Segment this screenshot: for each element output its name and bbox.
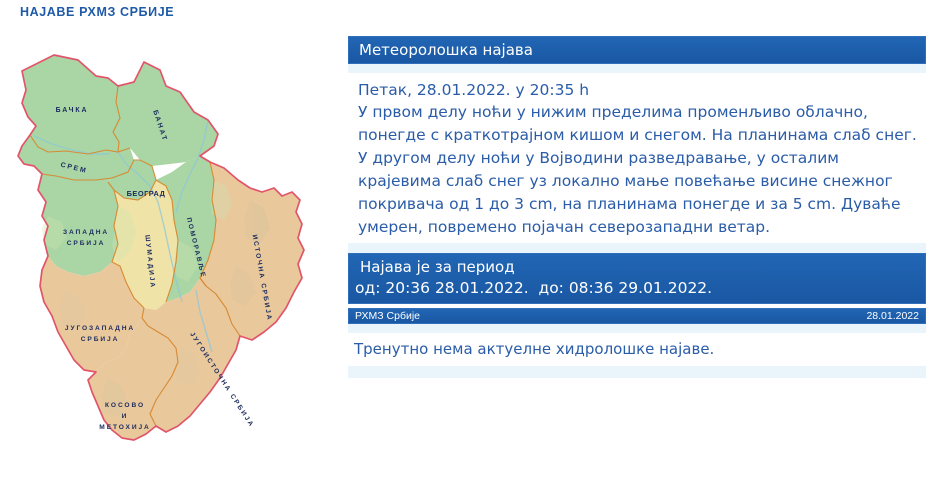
map-label-zapadna-srbija-line2: СРБИЈА [67,240,105,247]
map-label-jugozapadna-srbija-line1: ЈУГОЗАПАДНА [65,325,135,332]
report-panel: Метеоролошка најава Петак, 28.01.2022. у… [348,36,926,378]
meteo-header-bar: Метеоролошка најава [348,36,926,64]
hydro-date-label: 28.01.2022 [866,309,919,324]
map-label-zapadna-srbija-line1: ЗАПАДНА [63,229,109,236]
map-label-beograd: БЕОГРАД [127,189,166,198]
serbia-map-image: БАЧКА БАНАТ СРЕМ БЕОГРАД ЗАПАДНА СРБИЈА … [0,40,336,490]
map-label-kosovo-line3: МЕТОХИЈА [99,424,150,431]
hydro-body: Тренутно нема актуелне хидролошке најаве… [348,333,926,366]
map-label-jugozapadna-srbija-line2: СРБИЈА [81,336,119,343]
hydro-top-strip [348,324,926,333]
meteo-forecast-text: У првом делу ноћи у нижим пределима пром… [352,101,922,239]
meteo-datetime: Петак, 28.01.2022. у 20:35 h [352,79,922,101]
map-label-backa: БАЧКА [56,107,89,114]
period-range: од: 20:36 28.01.2022. до: 08:36 29.01.20… [355,278,925,299]
hydro-bottom-strip [348,366,926,378]
meteo-mid-strip [348,243,926,253]
hydro-source-bar: РХМЗ Србије 28.01.2022 [348,308,926,324]
hydro-status-text: Тренутно нема актуелне хидролошке најаве… [354,340,714,358]
page-title: НАЈАВЕ РХМЗ СРБИЈЕ [20,5,174,19]
region-fill-backa [22,55,120,154]
hydro-source-label: РХМЗ Србије [355,309,420,324]
map-label-kosovo-line2: И [122,413,129,420]
period-bar: Најава је за период од: 20:36 28.01.2022… [348,253,926,304]
meteo-top-strip [348,64,926,73]
period-title: Најава је за период [355,257,925,278]
serbia-map-panel: БАЧКА БАНАТ СРЕМ БЕОГРАД ЗАПАДНА СРБИЈА … [0,40,336,490]
map-label-kosovo-line1: КОСОВО [105,402,145,409]
meteo-body: Петак, 28.01.2022. у 20:35 h У првом дел… [348,73,926,243]
